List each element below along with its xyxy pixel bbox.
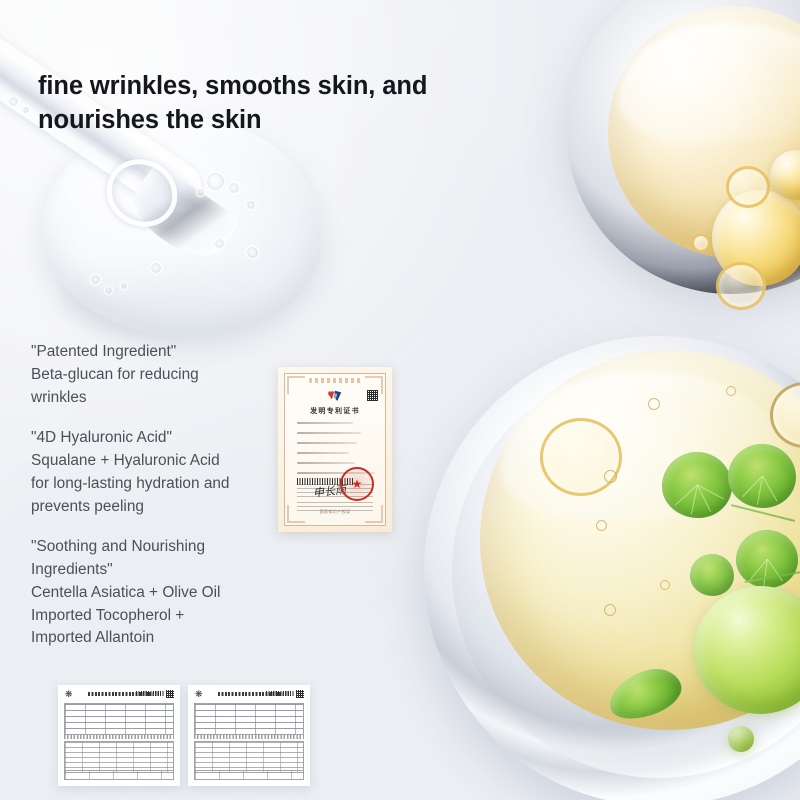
oil-bubble-medium: [770, 150, 800, 200]
benefit-paragraph-2: "4D Hyaluronic Acid" Squalane + Hyaluron…: [31, 427, 283, 519]
oil-bubble-ring-1: [726, 166, 770, 208]
national-emblem-icon: ❋: [195, 690, 204, 699]
oil-bubble-ring-2: [716, 262, 766, 310]
leaf-stem-2: [744, 571, 800, 583]
gel-bubble-j: [120, 282, 128, 290]
certificate-scroll-ornament: [309, 378, 361, 383]
pipette-glass-ring: [94, 146, 189, 239]
certificate-field-1: [297, 422, 353, 424]
national-emblem-icon: ❋: [65, 690, 74, 699]
certificate-field-4: [297, 452, 349, 454]
certificate-field-2: [297, 432, 361, 434]
green-oil-droplet: [694, 586, 800, 714]
report-code-1: [136, 691, 164, 696]
gel-bubble-c: [196, 188, 205, 197]
test-report-1: ❋: [58, 685, 180, 786]
green-oil-droplet-small: [728, 726, 754, 752]
gel-bubble-ring-large: [540, 418, 622, 496]
pipette-bubble-a: [8, 96, 19, 107]
gel-bubble-2: [596, 520, 607, 531]
certificate-qr-code: [367, 390, 378, 401]
seal-star-icon: ★: [352, 478, 363, 490]
leaf-stem-1: [731, 504, 796, 522]
test-report-2: ❋: [188, 685, 310, 786]
jar-top-highlight: [618, 24, 800, 144]
pipette-bubble-b: [22, 106, 30, 114]
clear-serum-gel-droplet: [42, 118, 322, 338]
report-qr-1: [166, 690, 174, 698]
jar-main-rim: [452, 364, 800, 778]
report-table-1: [64, 741, 174, 773]
gel-bubble-a: [206, 172, 225, 191]
report-note-1: [64, 735, 174, 739]
page-title: fine wrinkles, smooths skin, and nourish…: [38, 70, 508, 138]
gel-bubble-1: [604, 470, 617, 483]
gel-bubble-e: [214, 238, 225, 249]
patent-certificate: 发明专利证书 申长雨 ★ 国家知识产权局: [278, 367, 392, 532]
centella-leaf-1: [662, 452, 732, 518]
gel-blob-shadow: [58, 252, 258, 338]
gel-bubble-h: [90, 274, 101, 285]
cnipa-logo-icon: [327, 390, 343, 404]
certificate-corner-tl: [287, 376, 305, 394]
centella-leaf-5: [603, 662, 687, 727]
centella-leaf-3: [736, 530, 798, 588]
glass-jar-centella-gel: [424, 336, 800, 800]
report-note-2: [194, 735, 304, 739]
report-fields-2: [194, 703, 304, 735]
certificate-border: 发明专利证书 申长雨 ★ 国家知识产权局: [284, 373, 386, 526]
report-table-2: [194, 741, 304, 773]
oil-bubble-small: [692, 234, 710, 252]
report-code-2: [266, 691, 294, 696]
benefit-paragraph-1: "Patented Ingredient" Beta-glucan for re…: [31, 341, 283, 410]
centella-leaf-2: [728, 444, 796, 508]
report-footer-1: [64, 770, 174, 780]
benefits-list: "Patented Ingredient" Beta-glucan for re…: [31, 341, 283, 650]
gel-bubble-3: [604, 604, 616, 616]
gel-bubble-6: [726, 386, 736, 396]
certificate-title: 发明专利证书: [285, 406, 385, 416]
pipette-tip: [122, 162, 242, 270]
gel-bubble-d: [246, 200, 256, 210]
certificate-official-seal: ★: [340, 467, 374, 501]
gel-bubble-4: [660, 580, 670, 590]
centella-gel-surface: [480, 350, 800, 730]
centella-leaf-4: [690, 554, 734, 596]
gel-bubble-g: [150, 262, 162, 274]
glass-jar-amber-oil: [566, 0, 800, 294]
oil-bubble-large: [712, 190, 800, 286]
benefit-paragraph-3: "Soothing and Nourishing Ingredients" Ce…: [31, 536, 283, 651]
product-marketing-image: fine wrinkles, smooths skin, and nourish…: [0, 0, 800, 800]
gel-bubble-ring-right: [770, 382, 800, 448]
certificate-footer: 国家知识产权局: [285, 509, 385, 515]
gel-bubble-i: [104, 286, 113, 295]
jar-main-highlight: [500, 372, 790, 522]
certificate-field-5: [297, 462, 355, 464]
report-qr-2: [296, 690, 304, 698]
gel-bubble-b: [228, 182, 240, 194]
report-fields-1: [64, 703, 174, 735]
amber-oil-surface: [608, 6, 800, 258]
gel-bubble-5: [648, 398, 660, 410]
gel-bubble-f: [246, 246, 259, 259]
certificate-field-3: [297, 442, 357, 444]
report-footer-2: [194, 770, 304, 780]
